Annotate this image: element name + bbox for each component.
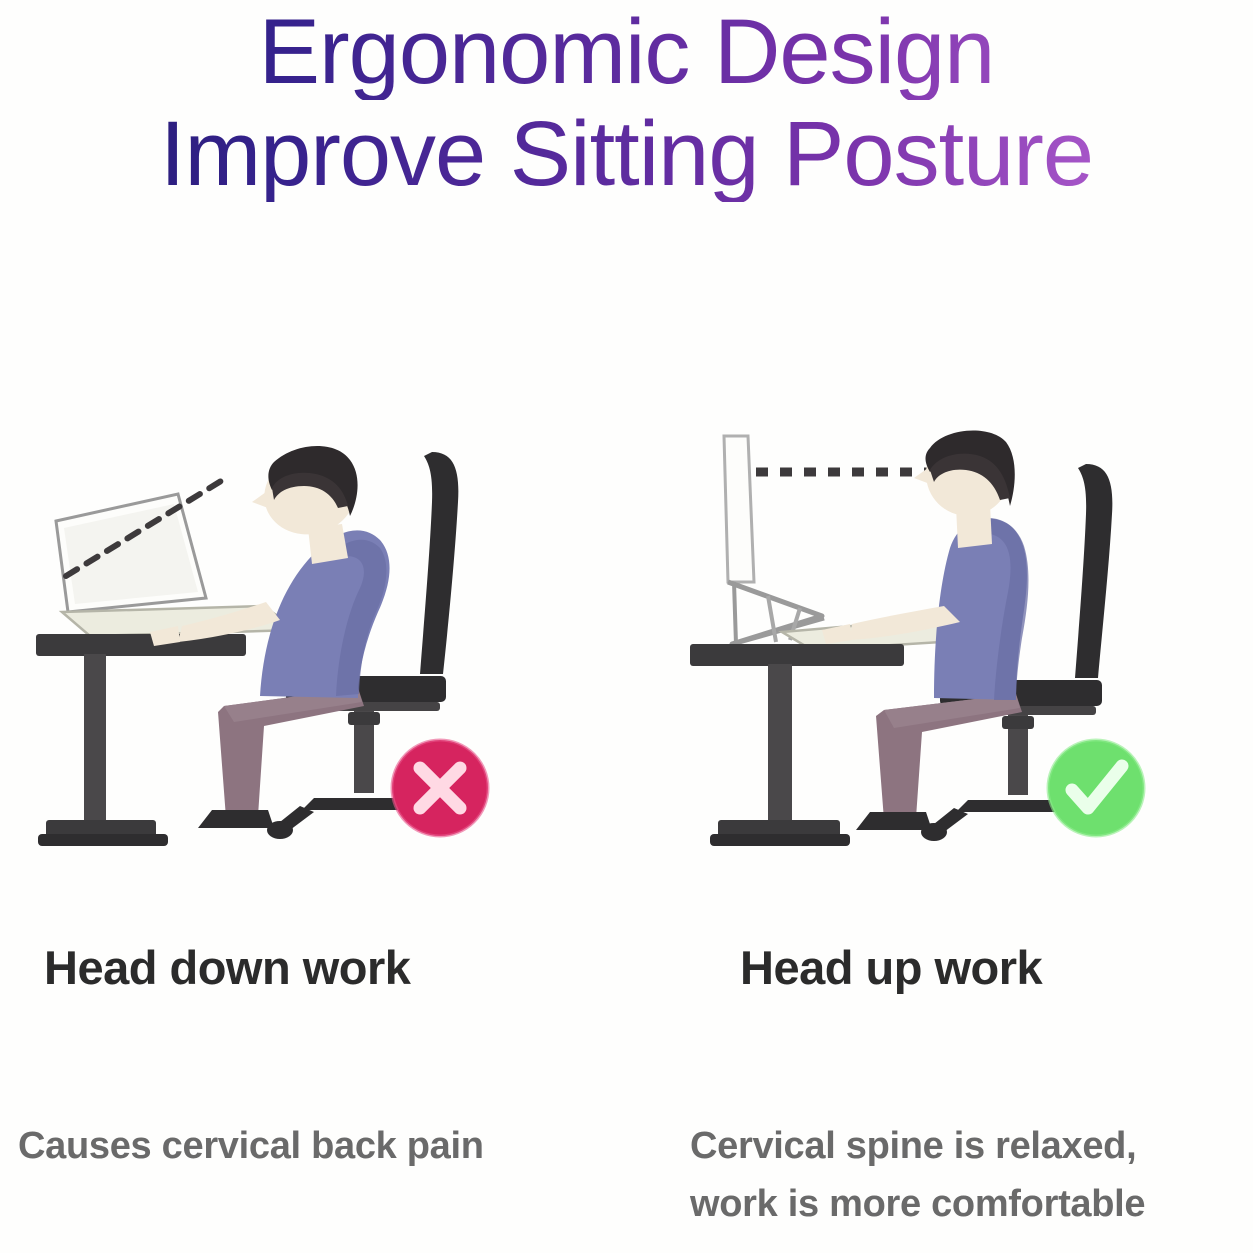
page-title: Ergonomic Design Improve Sitting Posture: [0, 6, 1253, 202]
illustration-panels: [0, 406, 1253, 906]
caption-head-down: Head down work: [44, 940, 410, 995]
description-line: work is more comfortable: [690, 1176, 1250, 1234]
description-line: Causes cervical back pain: [18, 1118, 618, 1176]
scene-head-down-illustration: [28, 406, 588, 906]
panel-head-up: [672, 406, 1232, 906]
title-line-2: Improve Sitting Posture: [0, 108, 1253, 202]
description-line: Cervical spine is relaxed,: [690, 1118, 1250, 1176]
title-line-1: Ergonomic Design: [0, 6, 1253, 100]
cross-badge-icon: [392, 740, 488, 836]
caption-head-up: Head up work: [740, 940, 1042, 995]
check-badge-icon: [1048, 740, 1144, 836]
description-head-up: Cervical spine is relaxed, work is more …: [690, 1118, 1250, 1234]
description-head-down: Causes cervical back pain: [18, 1118, 618, 1176]
captions-row: Head down work Head up work: [0, 940, 1253, 1020]
scene-head-up-illustration: [672, 406, 1232, 906]
panel-head-down: [28, 406, 588, 906]
